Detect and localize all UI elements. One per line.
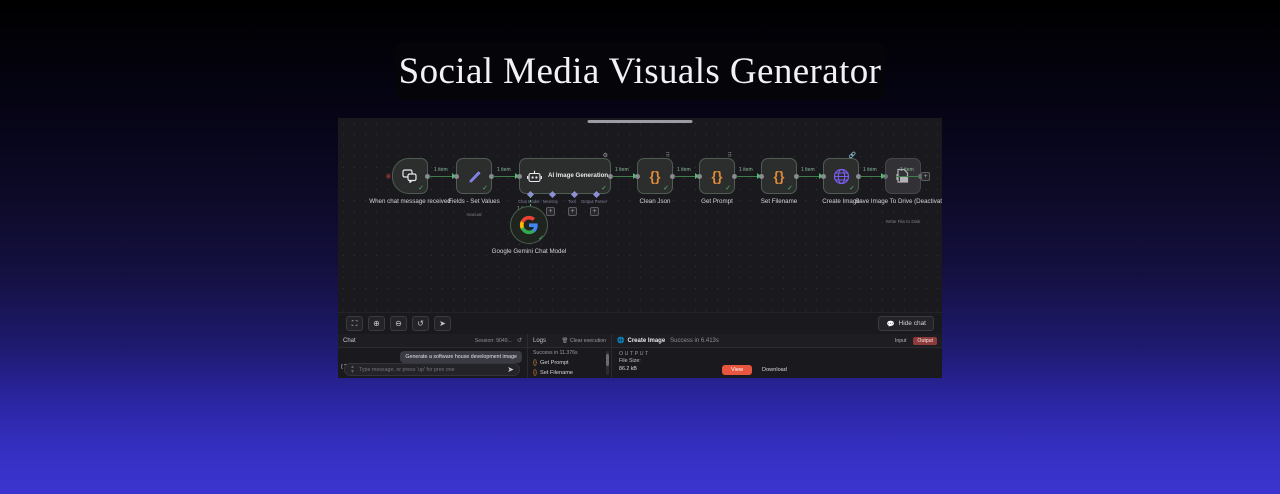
io-tabs: Input Output (891, 337, 937, 345)
chat-session-label: Session: 9049... (475, 338, 512, 344)
workflow-app-window: ✳ ✓ When chat message received 1 item (338, 118, 942, 378)
node-clean-json[interactable]: {} ✓ ⠿ Clean Json (637, 158, 673, 194)
chat-icon (402, 169, 418, 183)
node-label: Save Image To Drive (Deactivated) (853, 198, 942, 206)
output-panel-header: 🌐 Create Image Success in 6.413s Input O… (612, 334, 942, 348)
clear-execution-button[interactable]: 🗑 Clear execution (561, 338, 606, 344)
tab-output[interactable]: Output (913, 337, 937, 345)
log-item-label: Set Filename (540, 370, 573, 376)
code-braces-icon: {} (533, 370, 537, 376)
download-button[interactable]: Download (758, 365, 791, 375)
node-input-port[interactable] (759, 174, 764, 179)
output-actions: View Download (722, 365, 791, 375)
code-braces-icon: {} (712, 168, 723, 184)
connector-label: 1 item (801, 167, 815, 173)
pointer-tool-button[interactable]: ➤ (434, 316, 451, 331)
chat-title: Chat (343, 338, 356, 344)
add-output-parser-button[interactable]: + (590, 207, 599, 216)
canvas-toolbar: ⛶ ⊕ ⊖ ↺ ➤ 💬 Hide chat (338, 312, 942, 334)
connector-label: 1 item (739, 167, 753, 173)
refresh-icon[interactable]: ↺ (517, 337, 522, 344)
zoom-out-button[interactable]: ⊖ (390, 316, 407, 331)
node-fields-set-values[interactable]: ✓ Fields - Set Values manual (456, 158, 492, 194)
code-braces-icon: {} (533, 360, 537, 366)
node-input-port[interactable] (517, 174, 522, 179)
agent-port-label: Chat Model (518, 199, 539, 204)
node-google-gemini-chat-model[interactable]: ✓ Google Gemini Chat Model (510, 206, 548, 244)
node-body[interactable]: ✓ (510, 206, 548, 244)
node-body[interactable]: {} ✓ ⠿ (699, 158, 735, 194)
node-success-check: ✓ (663, 185, 669, 192)
output-status: Success in 6.413s (670, 338, 719, 344)
output-node-name: Create Image (627, 338, 665, 344)
node-body[interactable]: AI Image Generation ✓ ⚙ (519, 158, 611, 194)
chat-user-message: Generate a software house development im… (400, 351, 522, 363)
logs-scrollbar[interactable] (606, 351, 609, 375)
zoom-in-button[interactable]: ⊕ (368, 316, 385, 331)
node-menu-icon[interactable]: ⠿ (728, 152, 732, 159)
node-settings-icon[interactable]: ⚙ (603, 152, 608, 159)
logs-panel-header: Logs 🗑 Clear execution (528, 334, 611, 348)
node-inline-label: AI Image Generation (548, 172, 608, 180)
add-node-button[interactable]: + (921, 172, 930, 181)
send-icon[interactable]: ➤ (507, 365, 514, 374)
connector-label: 1 item (677, 167, 691, 173)
node-input-port[interactable] (635, 174, 640, 179)
log-item-label: Get Prompt (540, 360, 569, 366)
page-title-banner: Social Media Visuals Generator (395, 42, 885, 100)
node-input-port[interactable] (821, 174, 826, 179)
hide-chat-button[interactable]: 💬 Hide chat (878, 316, 934, 331)
node-create-image[interactable]: ✓ 🔗 Create Image (823, 158, 859, 194)
node-success-check: ✓ (538, 235, 544, 242)
connector-label: 1 item (900, 167, 914, 173)
node-success-check: ✓ (482, 185, 488, 192)
chat-panel-header: Chat Session: 9049... ↺ (338, 334, 527, 348)
globe-icon: 🌐 (617, 337, 624, 344)
trash-icon: 🗑 (561, 338, 568, 344)
workflow-canvas[interactable]: ✳ ✓ When chat message received 1 item (338, 118, 942, 312)
node-input-port[interactable] (883, 174, 888, 179)
connector-label: 1 item (434, 167, 448, 173)
log-item[interactable]: {} Set Filename (528, 368, 611, 378)
google-g-icon (520, 216, 539, 235)
logs-panel: Logs 🗑 Clear execution Success in 11.376… (528, 334, 612, 378)
output-panel: 🌐 Create Image Success in 6.413s Input O… (612, 334, 942, 378)
node-body[interactable]: {} ✓ (761, 158, 797, 194)
node-input-port[interactable] (454, 174, 459, 179)
connector-label: 1 item (615, 167, 629, 173)
fit-view-button[interactable]: ⛶ (346, 316, 363, 331)
node-when-chat-message-received[interactable]: ✓ When chat message received (392, 158, 428, 194)
node-sublabel: Write File to Disk (857, 219, 942, 224)
chat-input-row[interactable]: ▲▼ Type message, or press 'up' for prev … (344, 363, 520, 376)
add-tool-button[interactable]: + (568, 207, 577, 216)
node-label: Google Gemini Chat Model (486, 248, 572, 256)
clear-execution-label: Clear execution (570, 338, 606, 344)
bottom-panels: Chat Session: 9049... ↺ Generate a softw… (338, 334, 942, 378)
code-braces-icon: {} (774, 168, 785, 184)
log-item[interactable]: {} Get Prompt (528, 358, 611, 368)
connector-label: 1 item (497, 167, 511, 173)
node-success-check: ✓ (725, 185, 731, 192)
node-success-check: ✓ (418, 185, 424, 192)
logs-title: Logs (533, 338, 546, 344)
reset-zoom-button[interactable]: ↺ (412, 316, 429, 331)
node-label: Fields - Set Values (431, 198, 517, 206)
node-get-prompt[interactable]: {} ✓ ⠿ Get Prompt (699, 158, 735, 194)
node-success-check: ✓ (787, 185, 793, 192)
node-body[interactable]: ✓ (392, 158, 428, 194)
agent-port-label: Memory (543, 199, 558, 204)
node-body[interactable]: ✓ 🔗 (823, 158, 859, 194)
agent-port-label: Output Parser (581, 199, 607, 204)
chat-panel: Chat Session: 9049... ↺ Generate a softw… (338, 334, 528, 378)
code-braces-icon: {} (650, 168, 661, 184)
logs-status: Success in 11.376s (528, 348, 611, 358)
hide-chat-label: Hide chat (899, 320, 926, 327)
output-section-label: OUTPUT (612, 348, 942, 358)
node-ai-image-generation[interactable]: AI Image Generation ✓ ⚙ Chat Model Memor… (519, 158, 611, 194)
view-button[interactable]: View (722, 365, 752, 375)
window-grabber[interactable] (588, 120, 693, 123)
agent-port-label: Tool (568, 199, 576, 204)
node-menu-icon[interactable]: ⠿ (666, 152, 670, 159)
node-body[interactable]: {} ✓ ⠿ (637, 158, 673, 194)
trigger-star-icon: ✳ (385, 172, 392, 181)
node-sublabel: manual (428, 212, 520, 217)
node-body[interactable]: ✓ (456, 158, 492, 194)
chat-bubble-icon: 💬 (886, 320, 894, 328)
chat-input[interactable]: Type message, or press 'up' for prev one (359, 367, 503, 373)
pencil-icon (467, 169, 482, 184)
node-success-check: ✓ (601, 185, 607, 192)
globe-icon (833, 168, 850, 185)
robot-icon (527, 170, 542, 183)
page-title: Social Media Visuals Generator (399, 50, 882, 93)
tab-input[interactable]: Input (891, 337, 911, 345)
node-input-port[interactable] (697, 174, 702, 179)
history-arrows-icon: ▲▼ (350, 365, 355, 374)
node-set-filename[interactable]: {} ✓ Set Filename (761, 158, 797, 194)
